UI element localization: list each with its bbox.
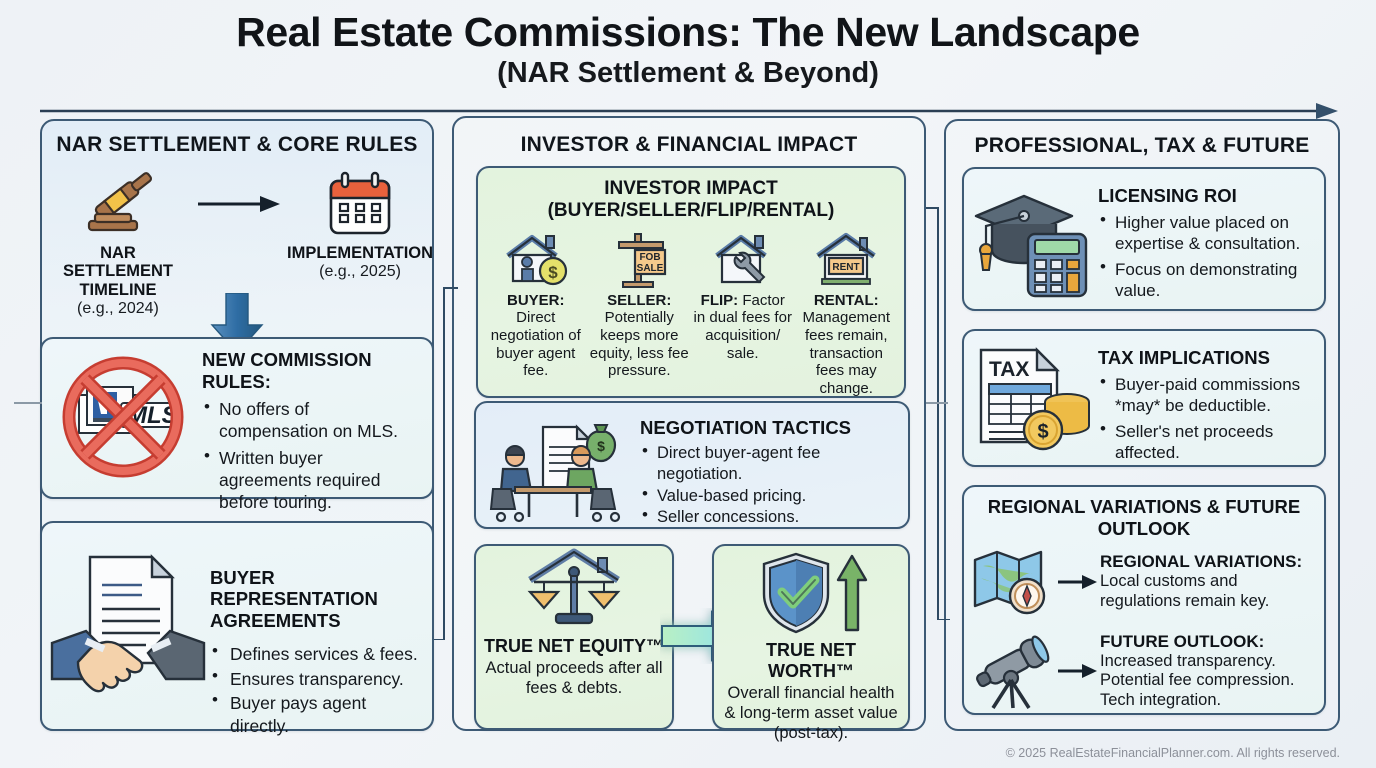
list-item: Focus on demonstrating value.: [1098, 259, 1314, 302]
regional-row-variations[interactable]: REGIONAL VARIATIONS: Local customs and r…: [964, 540, 1324, 620]
list-item: Defines services & fees.: [210, 643, 420, 665]
investor-impact-rental-desc: Management fees remain, transaction fees…: [802, 309, 890, 397]
investor-impact-flip-text: FLIP: Factor in dual fees for acquisitio…: [691, 292, 795, 363]
house-dollar-icon: $: [484, 226, 588, 288]
investor-impact-flip-label: FLIP:: [701, 292, 739, 309]
buyer-rep-bullets: Defines services & fees. Ensures transpa…: [210, 643, 420, 737]
future-outlook-line1: Increased transparency.: [1100, 652, 1316, 672]
list-item: Ensures transparency.: [210, 668, 420, 690]
svg-text:$: $: [597, 438, 605, 454]
investor-impact-buyer-text: BUYER: Direct negotiation of buyer agent…: [484, 292, 588, 380]
true-net-equity-title: TRUE NET EQUITY™: [484, 636, 664, 657]
for-sale-sign-icon: FOB SALE: [588, 226, 692, 288]
investor-impact-heading-line1: INVESTOR IMPACT: [478, 178, 904, 200]
right-column-title: PROFESSIONAL, TAX & FUTURE: [946, 121, 1338, 158]
list-item: Value-based pricing.: [640, 486, 898, 507]
timeline-settlement-label: NAR SETTLEMENT TIMELINE: [44, 244, 192, 299]
investor-impact-rental-text: RENTAL: Management fees remain, transact…: [795, 292, 899, 398]
regional-variations-line1: Local customs and: [1100, 572, 1316, 592]
regional-card-title: REGIONAL VARIATIONS & FUTURE OUTLOOK: [964, 487, 1324, 540]
list-item: Buyer pays agent directly.: [210, 692, 420, 737]
licensing-bullets: Higher value placed on expertise & consu…: [1098, 212, 1314, 302]
true-net-equity-desc: Actual proceeds after all fees & debts.: [484, 659, 664, 699]
footer-copyright: © 2025 RealEstateFinancialPlanner.com. A…: [1006, 746, 1340, 760]
licensing-heading: LICENSING ROI: [1098, 185, 1314, 207]
list-item: Seller's net proceeds affected.: [1098, 421, 1314, 464]
arrow-right-icon: [196, 167, 282, 241]
investor-impact-item-buyer[interactable]: $ BUYER: Direct negotiation of buyer age…: [484, 226, 588, 398]
timeline-item-settlement[interactable]: NAR SETTLEMENT TIMELINE (e.g., 2024): [44, 167, 192, 319]
card-buyer-representation-agreements[interactable]: BUYER REPRESENTATION AGREEMENTS Defines …: [40, 521, 434, 731]
list-item: Higher value placed on expertise & consu…: [1098, 212, 1314, 255]
tax-bullets: Buyer-paid commissions *may* be deductib…: [1098, 374, 1314, 464]
regional-variations-heading: REGIONAL VARIATIONS:: [1100, 552, 1316, 572]
investor-impact-heading-line2: (BUYER/SELLER/FLIP/RENTAL): [478, 200, 904, 222]
regional-row-future-outlook[interactable]: FUTURE OUTLOOK: Increased transparency. …: [964, 620, 1324, 711]
list-item: Written buyer agreements required before…: [202, 448, 420, 513]
tax-heading: TAX IMPLICATIONS: [1098, 347, 1314, 369]
new-rules-heading: NEW COMMISSION RULES:: [202, 349, 420, 393]
no-mls-icon: MLS: [48, 349, 198, 485]
timeline-implementation-label: IMPLEMENTATION: [286, 244, 434, 262]
investor-impact-seller-text: SELLER: Potentially keeps more equity, l…: [588, 292, 692, 380]
page-subtitle: (NAR Settlement & Beyond): [0, 58, 1376, 90]
investor-impact-buyer-desc: Direct negotiation of buyer agent fee.: [491, 309, 581, 379]
timeline-implementation-year: (e.g., 2025): [286, 263, 434, 281]
page-title: Real Estate Commissions: The New Landsca…: [0, 10, 1376, 54]
card-true-net-worth[interactable]: TRUE NET WORTH™ Overall financial health…: [712, 544, 910, 730]
connector-middle-to-right: [926, 200, 950, 620]
card-tax-implications[interactable]: TAX $: [962, 329, 1326, 467]
investor-impact-item-flip[interactable]: FLIP: Factor in dual fees for acquisitio…: [691, 226, 795, 398]
timeline-item-implementation[interactable]: IMPLEMENTATION (e.g., 2025): [286, 167, 434, 282]
list-item: No offers of compensation on MLS.: [202, 399, 420, 442]
svg-text:TAX: TAX: [989, 358, 1029, 381]
map-compass-icon: [970, 544, 1056, 620]
negotiation-table-icon: $: [482, 411, 638, 527]
negotiation-bullets: Direct buyer-agent fee negotiation. Valu…: [640, 443, 898, 529]
card-investor-impact[interactable]: INVESTOR IMPACT (BUYER/SELLER/FLIP/RENTA…: [476, 166, 906, 398]
card-negotiation-tactics[interactable]: $ NEGOTIATION TACTICS Direct buyer-agent…: [474, 401, 910, 529]
true-net-worth-title: TRUE NET WORTH™: [722, 640, 900, 682]
arrow-right-icon: [1056, 663, 1100, 679]
arrow-right-icon: [1056, 574, 1100, 590]
handshake-document-icon: [48, 551, 208, 701]
card-new-commission-rules[interactable]: MLS NEW COMMISSION RULES: No offers of c…: [40, 337, 434, 499]
card-regional-variations-future-outlook[interactable]: REGIONAL VARIATIONS & FUTURE OUTLOOK: [962, 485, 1326, 715]
future-outlook-heading: FUTURE OUTLOOK:: [1100, 632, 1316, 652]
connector-middle-right-mid: [926, 400, 948, 406]
true-net-worth-desc: Overall financial health & long-term ass…: [722, 684, 900, 743]
svg-text:$: $: [548, 263, 558, 282]
panel-professional-tax-future: PROFESSIONAL, TAX & FUTURE: [944, 119, 1340, 731]
investor-impact-buyer-label: BUYER:: [507, 292, 565, 309]
investor-impact-seller-label: SELLER:: [607, 292, 671, 309]
buyer-rep-heading: BUYER REPRESENTATION AGREEMENTS: [210, 567, 420, 631]
future-outlook-line2: Potential fee compression.: [1100, 671, 1316, 691]
timeline-settlement-year: (e.g., 2024): [44, 300, 192, 318]
connector-left-edge: [14, 400, 42, 406]
house-wrench-icon: [691, 226, 795, 288]
title-block: Real Estate Commissions: The New Landsca…: [0, 10, 1376, 90]
sign-text-line2: SALE: [637, 263, 664, 274]
list-item: Seller concessions.: [640, 507, 898, 528]
calendar-icon: [286, 167, 434, 241]
middle-column-title: INVESTOR & FINANCIAL IMPACT: [454, 118, 924, 157]
new-rules-bullets: No offers of compensation on MLS. Writte…: [202, 399, 420, 513]
tax-document-coins-icon: TAX $: [968, 341, 1098, 459]
graduation-cap-calculator-icon: [968, 179, 1098, 303]
connector-left-to-middle: [434, 280, 458, 640]
house-rent-sign-icon: RENT: [795, 226, 899, 288]
future-outlook-line3: Tech integration.: [1100, 691, 1316, 711]
sign-text: RENT: [833, 262, 860, 273]
shield-check-growth-icon: [722, 546, 900, 638]
left-column-title: NAR SETTLEMENT & CORE RULES: [42, 121, 432, 157]
investor-impact-rental-label: RENTAL:: [814, 292, 879, 309]
svg-text:$: $: [1037, 421, 1048, 443]
card-true-net-equity[interactable]: TRUE NET EQUITY™ Actual proceeds after a…: [474, 544, 674, 730]
house-scales-icon: [484, 546, 664, 630]
investor-impact-item-seller[interactable]: FOB SALE SELLER: Potentially keeps more …: [588, 226, 692, 398]
investor-impact-item-rental[interactable]: RENT RENTAL: Management fees remain, tra…: [795, 226, 899, 398]
regional-variations-line2: regulations remain key.: [1100, 592, 1316, 612]
list-item: Direct buyer-agent fee negotiation.: [640, 443, 898, 486]
sign-text-line1: FOB: [640, 252, 661, 263]
telescope-icon: [970, 633, 1056, 709]
negotiation-heading: NEGOTIATION TACTICS: [640, 417, 898, 439]
investor-impact-seller-desc: Potentially keeps more equity, less fee …: [590, 309, 689, 379]
investor-impact-heading: INVESTOR IMPACT (BUYER/SELLER/FLIP/RENTA…: [478, 168, 904, 222]
list-item: Buyer-paid commissions *may* be deductib…: [1098, 374, 1314, 417]
gavel-icon: [44, 167, 192, 241]
card-licensing-roi[interactable]: LICENSING ROI Higher value placed on exp…: [962, 167, 1326, 311]
